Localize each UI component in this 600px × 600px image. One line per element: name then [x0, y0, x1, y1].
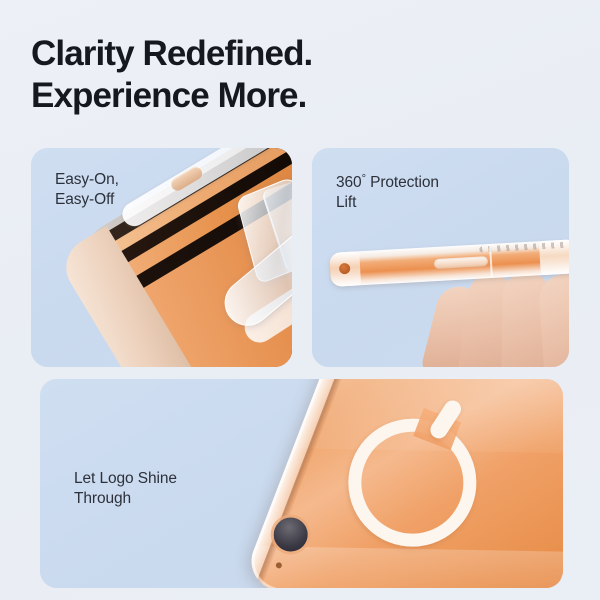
- feature-card-easy-on-off[interactable]: Easy-On, Easy-Off: [31, 148, 292, 367]
- label-word: Protection: [366, 174, 439, 191]
- feature-card-logo-shine[interactable]: Let Logo Shine Through: [40, 379, 563, 588]
- card-label-logo-shine: Let Logo Shine Through: [74, 469, 177, 509]
- card-label-protection-lift: 360° Protection Lift: [336, 169, 439, 213]
- label-line-1: Let Logo Shine: [74, 469, 177, 489]
- page-title: Clarity Redefined. Experience More.: [31, 33, 551, 117]
- finger: [538, 272, 569, 367]
- label-line-1: 360° Protection: [336, 169, 439, 193]
- label-line-2: Lift: [336, 193, 439, 213]
- headline-line-2: Experience More.: [31, 75, 551, 117]
- label-number: 360: [336, 174, 362, 191]
- headline-line-1: Clarity Redefined.: [31, 33, 551, 75]
- label-line-2: Easy-Off: [55, 190, 119, 210]
- label-line-1: Easy-On,: [55, 170, 119, 190]
- hand-illustration: [430, 272, 569, 367]
- product-feature-page: Clarity Redefined. Experience More. Easy…: [0, 0, 600, 600]
- label-line-2: Through: [74, 489, 177, 509]
- card-label-easy-on-off: Easy-On, Easy-Off: [55, 170, 119, 210]
- feature-card-protection-lift[interactable]: 360° Protection Lift: [312, 148, 569, 367]
